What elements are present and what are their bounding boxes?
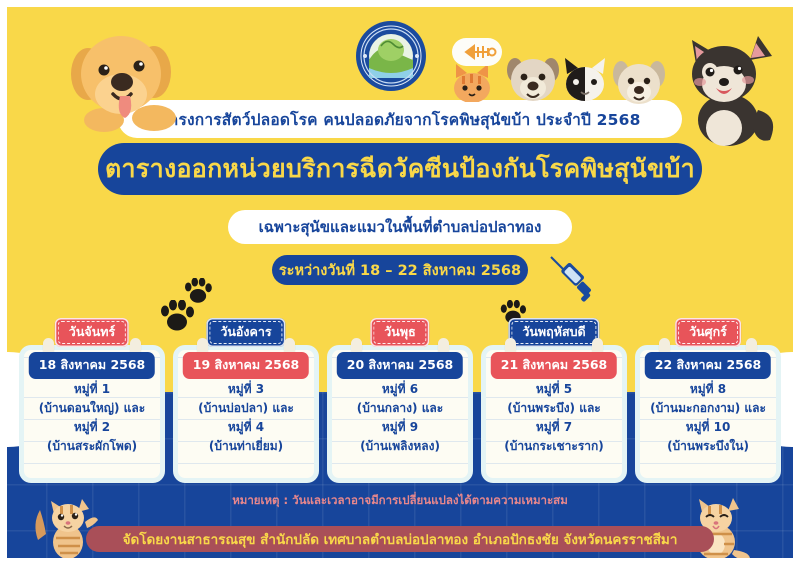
schedule-card-list: วันจันทร์ 18 สิงหาคม 2568 หมู่ที่ 1 (บ้า… bbox=[0, 318, 800, 483]
village-line: (บ้านกระเชาะราก) bbox=[483, 437, 625, 456]
municipal-seal bbox=[355, 20, 427, 92]
schedule-card[interactable]: วันพุธ 20 สิงหาคม 2568 หมู่ที่ 6 (บ้านกล… bbox=[327, 318, 473, 483]
date-pill: 20 สิงหาคม 2568 bbox=[337, 352, 463, 379]
program-title: โครงการสัตว์ปลอดโรค คนปลอดภัยจากโรคพิษสุ… bbox=[159, 107, 640, 132]
organizer-band: จัดโดยงานสาธารณสุข สำนักปลัด เทศบาลตำบลบ… bbox=[86, 526, 714, 552]
organizer-text: จัดโดยงานสาธารณสุข สำนักปลัด เทศบาลตำบลบ… bbox=[123, 528, 678, 550]
village-line: (บ้านพระบึง) และ bbox=[483, 399, 625, 418]
subtitle-band: เฉพาะสุนัขและแมวในพื้นที่ตำบลบ่อปลาทอง bbox=[228, 210, 572, 244]
golden-retriever-dog bbox=[58, 22, 186, 134]
date-pill: 21 สิงหาคม 2568 bbox=[491, 352, 617, 379]
village-list: หมู่ที่ 8 (บ้านมะกอกงาม) และ หมู่ที่ 10 … bbox=[635, 380, 781, 456]
village-list: หมู่ที่ 6 (บ้านกลาง) และ หมู่ที่ 9 (บ้าน… bbox=[327, 380, 473, 456]
remark-text: หมายเหตุ : วันและเวลาอาจมีการเปลี่ยนแปลง… bbox=[0, 492, 800, 510]
fish-bone bbox=[452, 38, 502, 70]
village-line: หมู่ที่ 4 bbox=[175, 418, 317, 437]
beige-dog bbox=[612, 56, 666, 106]
village-line: (บ้านกลาง) และ bbox=[329, 399, 471, 418]
pug-dog bbox=[505, 52, 561, 104]
subtitle-text: เฉพาะสุนัขและแมวในพื้นที่ตำบลบ่อปลาทอง bbox=[259, 215, 542, 239]
date-range-text: ระหว่างวันที่ 18 – 22 สิงหาคม 2568 bbox=[279, 259, 521, 282]
date-range-pill: ระหว่างวันที่ 18 – 22 สิงหาคม 2568 bbox=[272, 255, 528, 285]
program-title-band: โครงการสัตว์ปลอดโรค คนปลอดภัยจากโรคพิษสุ… bbox=[118, 100, 682, 138]
village-line: หมู่ที่ 6 bbox=[329, 380, 471, 399]
date-pill: 22 สิงหาคม 2568 bbox=[645, 352, 771, 379]
schedule-card[interactable]: วันจันทร์ 18 สิงหาคม 2568 หมู่ที่ 1 (บ้า… bbox=[19, 318, 165, 483]
village-line: (บ้านสระผักโพด) bbox=[21, 437, 163, 456]
village-line: (บ้านมะกอกงาม) และ bbox=[637, 399, 779, 418]
village-line: (บ้านบ่อปลา) และ bbox=[175, 399, 317, 418]
schedule-card[interactable]: วันอังคาร 19 สิงหาคม 2568 หมู่ที่ 3 (บ้า… bbox=[173, 318, 319, 483]
village-list: หมู่ที่ 5 (บ้านพระบึง) และ หมู่ที่ 7 (บ้… bbox=[481, 380, 627, 456]
village-line: หมู่ที่ 10 bbox=[637, 418, 779, 437]
village-line: (บ้านดอนใหญ่) และ bbox=[21, 399, 163, 418]
village-line: หมู่ที่ 7 bbox=[483, 418, 625, 437]
village-line: (บ้านพระบึงใน) bbox=[637, 437, 779, 456]
village-line: หมู่ที่ 5 bbox=[483, 380, 625, 399]
village-list: หมู่ที่ 1 (บ้านดอนใหญ่) และ หมู่ที่ 2 (บ… bbox=[19, 380, 165, 456]
village-line: หมู่ที่ 1 bbox=[21, 380, 163, 399]
village-line: หมู่ที่ 2 bbox=[21, 418, 163, 437]
date-pill: 18 สิงหาคม 2568 bbox=[29, 352, 155, 379]
poster-canvas: โครงการสัตว์ปลอดโรค คนปลอดภัยจากโรคพิษสุ… bbox=[0, 0, 800, 565]
village-list: หมู่ที่ 3 (บ้านบ่อปลา) และ หมู่ที่ 4 (บ้… bbox=[173, 380, 319, 456]
village-line: (บ้านเพลิงหลง) bbox=[329, 437, 471, 456]
village-line: (บ้านท่าเยี่ยม) bbox=[175, 437, 317, 456]
main-title-text: ตารางออกหน่วยบริการฉีดวัคซีนป้องกันโรคพิ… bbox=[105, 149, 695, 189]
main-title-band: ตารางออกหน่วยบริการฉีดวัคซีนป้องกันโรคพิ… bbox=[98, 143, 702, 195]
paw-print-icon bbox=[184, 278, 212, 304]
shiba-dog bbox=[672, 28, 778, 148]
syringe-icon bbox=[548, 252, 596, 302]
schedule-card[interactable]: วันศุกร์ 22 สิงหาคม 2568 หมู่ที่ 8 (บ้าน… bbox=[635, 318, 781, 483]
black-white-cat bbox=[560, 54, 610, 104]
village-line: หมู่ที่ 9 bbox=[329, 418, 471, 437]
village-line: หมู่ที่ 8 bbox=[637, 380, 779, 399]
village-line: หมู่ที่ 3 bbox=[175, 380, 317, 399]
date-pill: 19 สิงหาคม 2568 bbox=[183, 352, 309, 379]
schedule-card[interactable]: วันพฤหัสบดี 21 สิงหาคม 2568 หมู่ที่ 5 (บ… bbox=[481, 318, 627, 483]
